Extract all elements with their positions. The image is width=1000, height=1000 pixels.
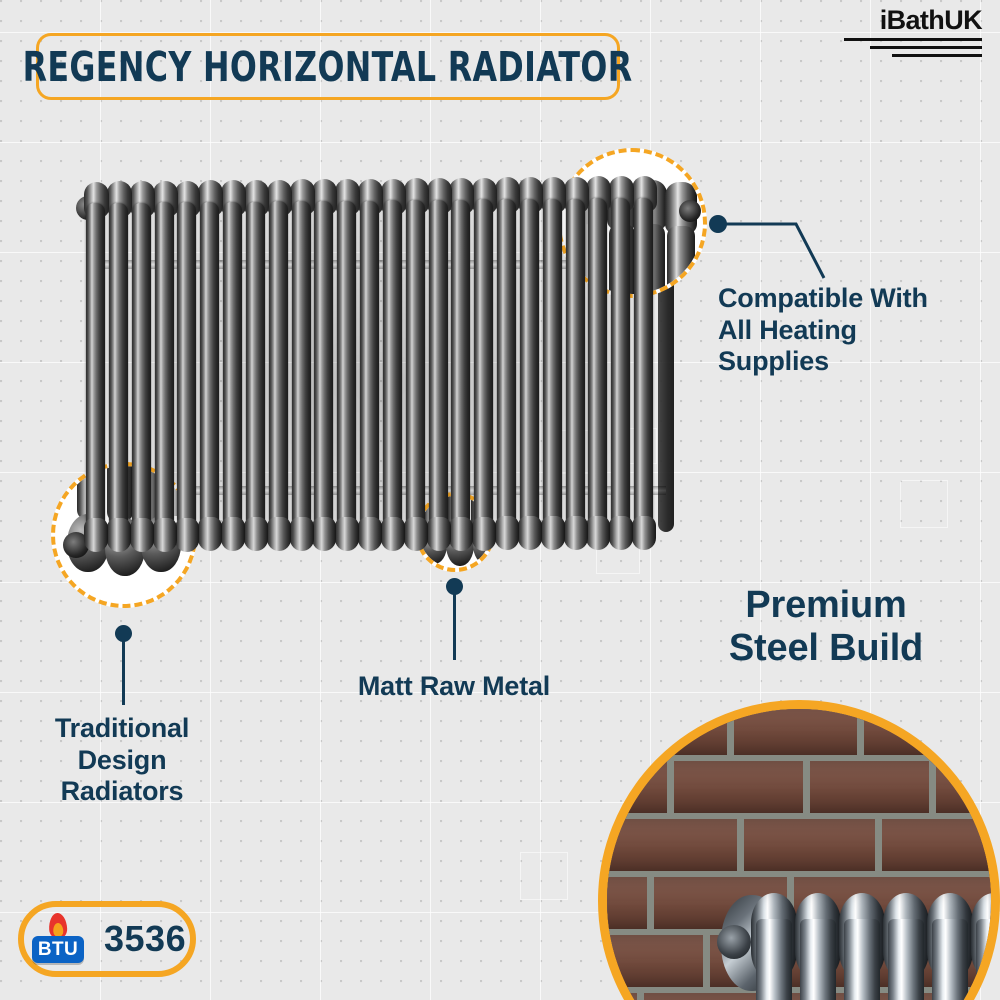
callout-line: Matt Raw Metal [339,671,569,703]
radiator-body [86,168,666,556]
brick-row [598,761,1000,820]
radiator-column [429,200,448,529]
radiator-column [109,203,128,530]
brick-mortar-seam [929,761,936,819]
brick-mortar-seam [637,993,644,1000]
feature-photo-circle [598,700,1000,1000]
callout-matt-raw-metal-label: Matt Raw Metal [339,671,569,703]
radiator-column-foot [175,518,199,552]
radiator-column [543,199,562,528]
callout-line: All Heating [718,315,988,347]
logo-bar-icon [870,46,982,49]
feature-heading-line: Steel Build [666,627,986,670]
radiator-column-foot [221,517,245,551]
callout-line: Design [12,745,232,777]
callout-traditional-design-label: Traditional Design Radiators [12,713,232,808]
brick-mortar-seam [647,877,654,935]
radiator-column [132,203,151,530]
brick-row [598,703,1000,762]
radiator-column [451,200,470,529]
radiator-column-foot [84,518,108,552]
brick-mortar-seam [803,761,810,819]
radiator-column [406,200,425,529]
radiator-column [177,202,196,529]
callout-line: Radiators [12,776,232,808]
radiator-column-foot [107,518,131,552]
brick-mortar-seam [667,761,674,819]
brand-logo-text: iBathUK [842,6,982,34]
radiator-column-foot [609,516,633,550]
leader-line-matt [453,592,456,660]
radiator-column [155,202,174,529]
radiator-column-foot [267,517,291,551]
radiator-column-foot [564,516,588,550]
radiator-column-foot [404,517,428,551]
btu-label: BTU [38,940,78,959]
radiator-column-foot [130,518,154,552]
zoom-radiator-column [667,226,695,294]
radiator-column-foot [586,516,610,550]
radiator-column-foot [427,517,451,551]
radiator-column [520,199,539,528]
radiator-column-foot [290,517,314,551]
infographic-canvas: Regency Horizontal Radiator iBathUK [0,0,1000,1000]
radiator-column-foot [153,518,177,552]
feature-photo-heading: Premium Steel Build [666,584,986,670]
page-title-box: Regency Horizontal Radiator [36,33,620,100]
feature-heading-line: Premium [666,584,986,627]
callout-line: Traditional [12,713,232,745]
radiator-column [292,201,311,529]
chrome-radiator-column [844,919,880,1000]
radiator-column-foot [541,516,565,550]
callout-line: Compatible With [718,283,988,315]
radiator-column [474,199,493,528]
radiator-column-foot [449,517,473,551]
btu-badge: BTU 3536 [18,901,196,977]
chrome-radiator-column [976,919,1000,1000]
logo-bar-icon [844,38,982,41]
chrome-radiator-column [800,919,836,1000]
radiator-column-foot [244,517,268,551]
radiator-column-foot [632,516,656,550]
btu-plate: BTU [32,936,84,963]
page-title: Regency Horizontal Radiator [23,43,633,91]
logo-bar-icon [892,54,982,57]
chrome-radiator-column [932,919,968,1000]
radiator-column [360,201,379,529]
brand-logo[interactable]: iBathUK [842,6,982,57]
radiator-column-foot [381,517,405,551]
radiator-column-foot [358,517,382,551]
radiator-column [337,201,356,529]
brick-mortar-seam [727,703,734,761]
brick-mortar-seam [857,703,864,761]
radiator-column [566,199,585,529]
brick-mortar-seam [703,935,710,993]
radiator-column [611,198,630,528]
product-image-radiator [86,168,666,556]
radiator-column [588,198,607,528]
chrome-radiator-column [888,919,924,1000]
radiator-column [634,198,653,528]
chrome-radiator-photo [717,859,1000,1000]
chrome-radiator-column [756,919,792,1000]
callout-line: Supplies [718,346,988,378]
radiator-column-foot [198,517,222,551]
radiator-column-foot [335,517,359,551]
radiator-column [269,201,288,529]
radiator-column-foot [472,517,496,551]
callout-compatible-label: Compatible With All Heating Supplies [718,283,988,378]
btu-flame-icon: BTU [30,911,86,967]
leader-line-traditional [122,639,125,705]
zoom-valve-port-icon [679,200,701,222]
radiator-column-foot [495,516,519,550]
radiator-column [86,203,105,530]
radiator-column-foot [518,516,542,550]
radiator-column [223,202,242,529]
btu-value: 3536 [104,918,186,960]
radiator-column [246,202,265,530]
radiator-column [383,200,402,528]
radiator-column [497,199,516,528]
radiator-column [200,202,219,529]
chrome-radiator-plug-icon [717,925,751,959]
background-tile-accent [900,480,948,528]
background-tile-accent [520,852,568,900]
radiator-column-foot [312,517,336,551]
radiator-column [314,201,333,529]
